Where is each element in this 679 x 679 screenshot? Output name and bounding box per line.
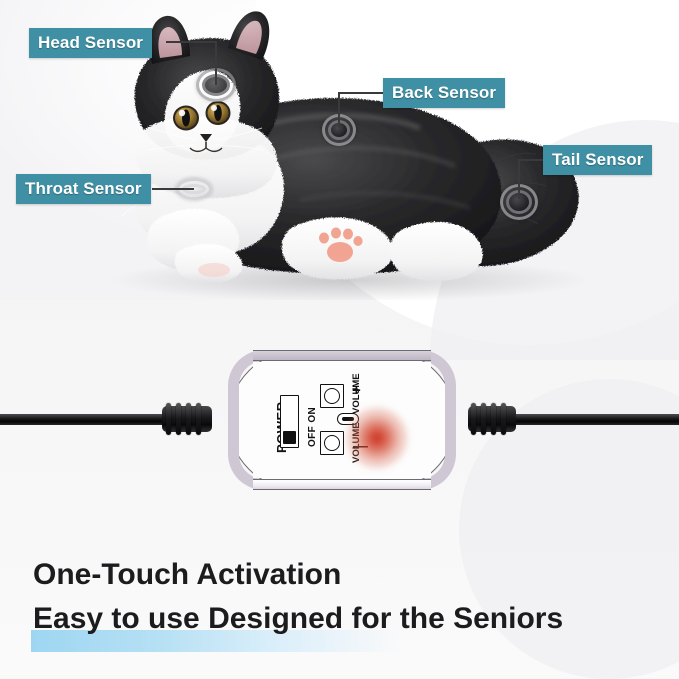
- volume-up-sign: +: [352, 383, 361, 398]
- cable-right: [500, 414, 679, 425]
- tail-leader-vertical: [518, 159, 520, 199]
- volume-up-button[interactable]: [320, 384, 344, 408]
- power-switch-knob[interactable]: [283, 431, 296, 444]
- product-infographic: Head Sensor Throat Sensor Back Sensor Ta…: [0, 0, 679, 679]
- box-rim-top: [253, 350, 431, 361]
- throat-leader-horizontal: [152, 188, 194, 190]
- control-box[interactable]: POWER OFF ON VOLUME + VOLUME —: [228, 350, 456, 490]
- volume-down-button-circle: [324, 435, 340, 451]
- box-rim-bottom: [253, 479, 431, 490]
- controller-assembly: POWER OFF ON VOLUME + VOLUME —: [0, 330, 679, 510]
- callout-throat-sensor: Throat Sensor: [16, 174, 151, 204]
- back-leader-vertical: [338, 92, 340, 128]
- volume-down-button[interactable]: [320, 431, 344, 455]
- head-leader-vertical: [215, 41, 217, 85]
- strain-relief-right: [468, 406, 516, 432]
- head-leader-horizontal: [166, 41, 216, 43]
- power-switch[interactable]: [280, 395, 299, 448]
- callout-head-sensor: Head Sensor: [29, 28, 152, 58]
- back-leader-horizontal: [338, 92, 386, 94]
- status-led: [345, 406, 409, 470]
- volume-up-button-circle: [324, 388, 340, 404]
- callout-back-sensor: Back Sensor: [383, 78, 505, 108]
- headline-line-2: Easy to use Designed for the Seniors: [33, 602, 563, 636]
- headline-line-1: One-Touch Activation: [33, 558, 341, 592]
- strain-relief-left: [162, 406, 212, 432]
- callout-tail-sensor: Tail Sensor: [543, 145, 652, 175]
- power-switch-states-label: OFF ON: [307, 407, 318, 447]
